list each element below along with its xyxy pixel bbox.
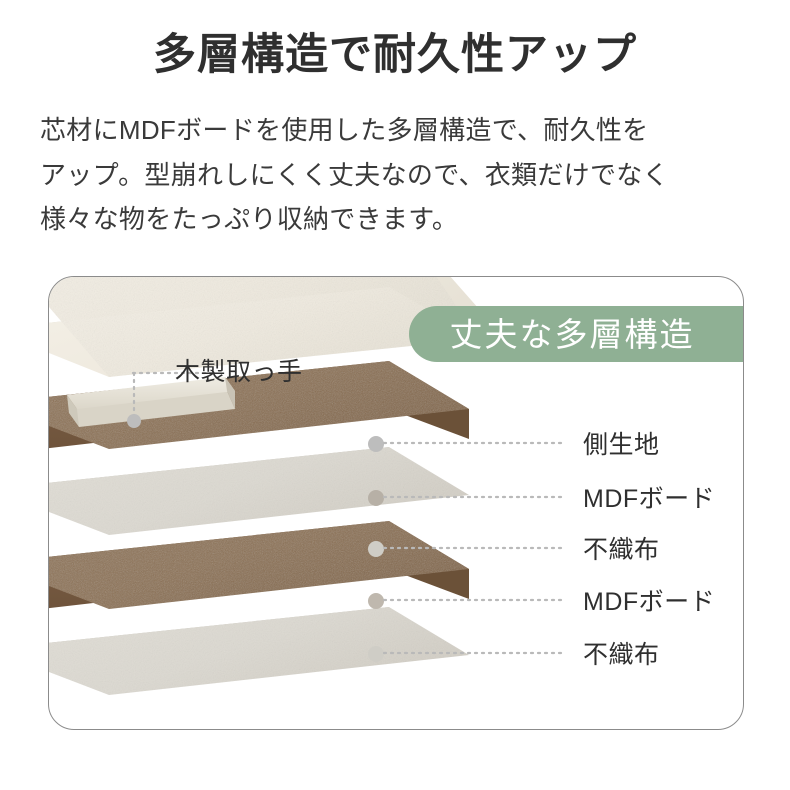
layer-label-non-woven-middle: 不織布 (583, 530, 660, 566)
page-title: 多層構造で耐久性アップ (0, 30, 790, 82)
layer-label-non-woven-bottom: 不織布 (583, 635, 660, 671)
status-badge: 丈夫な多層構造 (409, 306, 743, 362)
description-line-2: アップ。型崩れしにくく丈夫なので、衣類だけでなく (40, 153, 754, 198)
layer-shape-mdf-lower (49, 521, 469, 615)
layer-label-outer-fabric: 側生地 (583, 425, 660, 461)
layer-label-mdf-upper: MDFボード (583, 479, 715, 515)
description-line-3: 様々な物をたっぷり収納できます。 (40, 197, 754, 242)
layer-shape-non-woven-bottom (49, 607, 469, 695)
layer-label-mdf-lower: MDFボード (583, 582, 715, 618)
status-badge-label: 丈夫な多層構造 (450, 318, 695, 351)
description-paragraph: 芯材にMDFボードを使用した多層構造で、耐久性を アップ。型崩れしにくく丈夫なの… (40, 108, 754, 242)
page-root: 多層構造で耐久性アップ 芯材にMDFボードを使用した多層構造で、耐久性を アップ… (0, 0, 790, 790)
layer-shape-non-woven-middle (49, 447, 469, 535)
description-line-1: 芯材にMDFボードを使用した多層構造で、耐久性を (40, 108, 754, 153)
callout-label-wooden-handle: 木製取っ手 (175, 352, 303, 388)
